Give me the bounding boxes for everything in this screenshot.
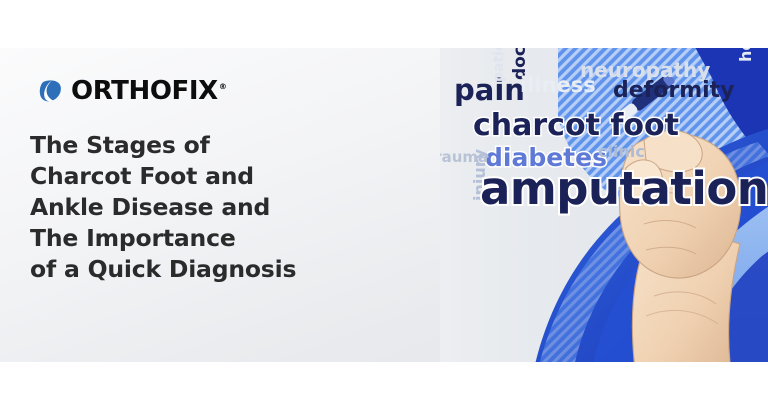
word-amputation: amputation [480, 166, 768, 211]
left-content-column: ORTHOFIX® The Stages of Charcot Foot and… [0, 48, 460, 362]
brand-name-text: ORTHOFIX [71, 76, 218, 106]
brand-name: ORTHOFIX® [71, 78, 227, 104]
word-neuropathy: neuropathy [580, 60, 710, 80]
word-hospital: hospital [738, 48, 754, 62]
brand-logo[interactable]: ORTHOFIX® [38, 78, 227, 104]
word-clinic: clinic [598, 144, 645, 160]
headline-line-2: Charcot Foot and [30, 161, 360, 192]
word-charcot-foot: charcot foot [473, 111, 679, 141]
headline-line-4: The Importance [30, 223, 360, 254]
headline-line-1: The Stages of [30, 130, 360, 161]
word-patient: patient [492, 48, 506, 82]
page-title: The Stages of Charcot Foot and Ankle Dis… [30, 130, 360, 285]
headline-line-3: Ankle Disease and [30, 192, 360, 223]
headline-line-5: of a Quick Diagnosis [30, 254, 360, 285]
word-pain: pain [454, 76, 525, 105]
word-cloud: pain patient doctor illness neuropathy d… [440, 48, 768, 362]
orthofix-circle-mark-icon [38, 78, 64, 104]
registered-trademark-symbol: ® [219, 82, 227, 91]
banner: ORTHOFIX® The Stages of Charcot Foot and… [0, 48, 768, 362]
word-deformity: deformity [613, 80, 735, 102]
hero-illustration: pain patient doctor illness neuropathy d… [440, 48, 768, 362]
